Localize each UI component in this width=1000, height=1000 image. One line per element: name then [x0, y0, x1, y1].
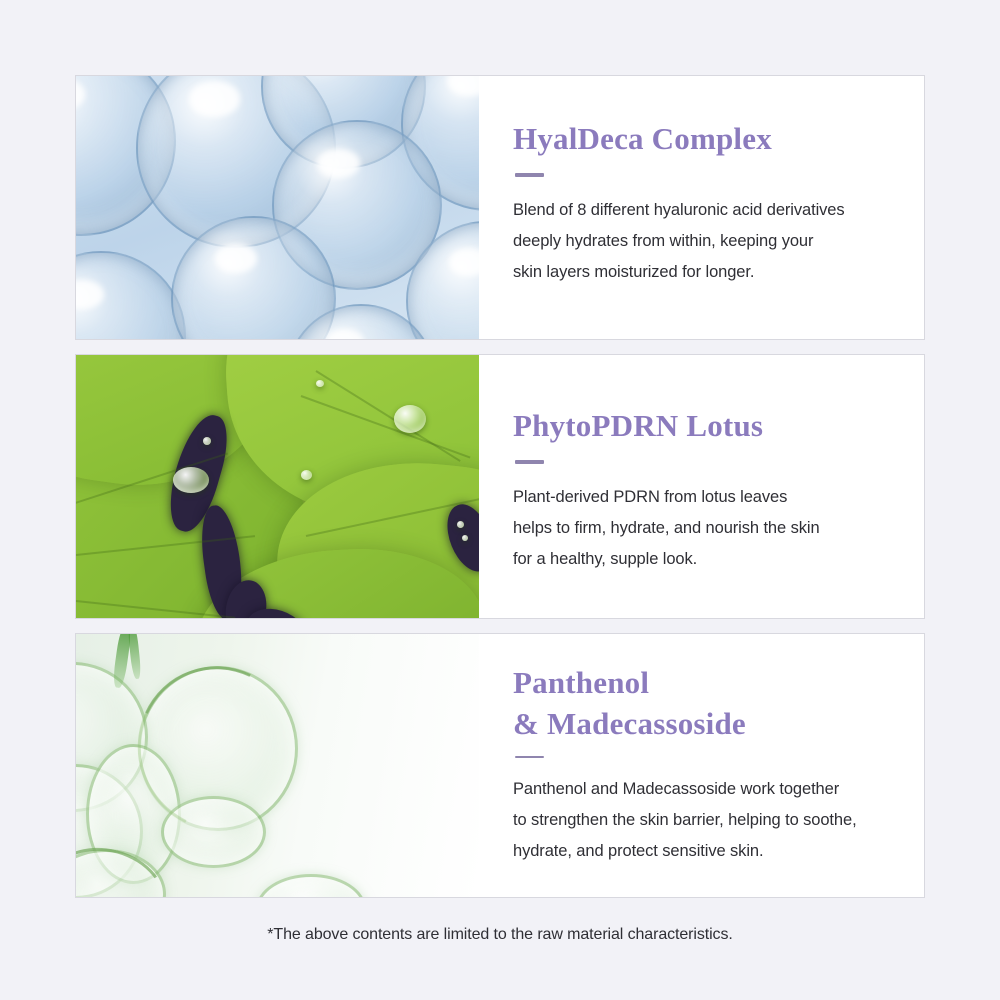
ingredient-card-hyaldeca-complex: HyalDeca Complex Blend of 8 different hy… — [75, 75, 925, 340]
title-divider — [515, 460, 544, 464]
ingredient-card-body: PhytoPDRN Lotus Plant-derived PDRN from … — [479, 355, 924, 618]
ingredient-card-panthenol-madecassoside: Panthenol & Madecassoside Panthenol and … — [75, 633, 925, 898]
blue-hyaluronic-spheres-image — [76, 76, 479, 339]
title-divider — [515, 756, 544, 758]
ingredient-title: PhytoPDRN Lotus — [513, 405, 890, 446]
ingredient-description: Panthenol and Madecassoside work togethe… — [513, 774, 890, 867]
title-divider — [515, 173, 544, 177]
ingredient-description: Blend of 8 different hyaluronic acid der… — [513, 195, 890, 288]
ingredient-title: Panthenol & Madecassoside — [513, 662, 890, 744]
ingredient-card-phytopdrn-lotus: PhytoPDRN Lotus Plant-derived PDRN from … — [75, 354, 925, 619]
lotus-leaves-image — [76, 355, 479, 618]
footnote-text: *The above contents are limited to the r… — [75, 926, 925, 944]
ingredient-card-body: Panthenol & Madecassoside Panthenol and … — [479, 634, 924, 897]
ingredient-feature-page: HyalDeca Complex Blend of 8 different hy… — [0, 0, 1000, 1000]
green-bubbles-image — [76, 634, 479, 897]
ingredient-card-body: HyalDeca Complex Blend of 8 different hy… — [479, 76, 924, 339]
ingredient-title: HyalDeca Complex — [513, 118, 890, 159]
ingredient-description: Plant-derived PDRN from lotus leaves hel… — [513, 482, 890, 575]
